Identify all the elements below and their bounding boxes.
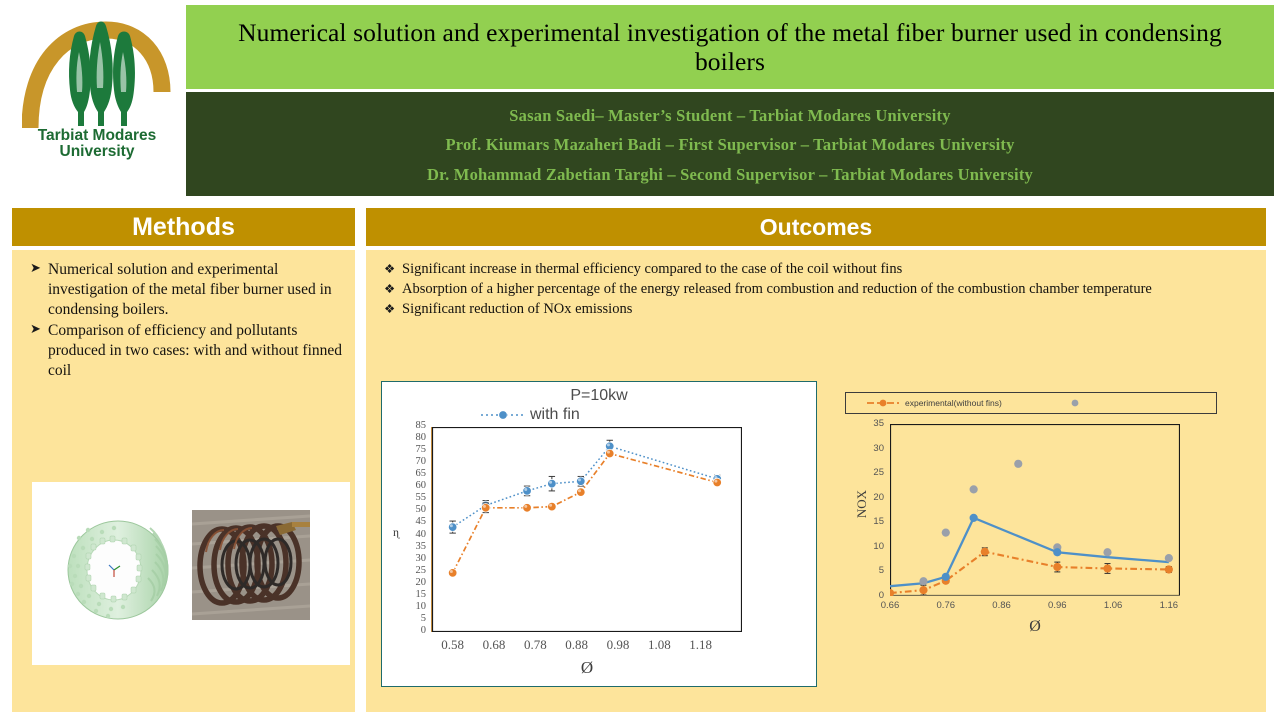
x-axis-tick: 0.98 (598, 637, 638, 653)
data-point (970, 514, 978, 522)
arrow-bullet-icon: ➤ (30, 321, 41, 338)
y-axis-tick: 40 (394, 529, 426, 540)
efficiency-chart: P=10kw with fin ɳ Ø 05101520253035404550… (381, 381, 817, 687)
y-axis-tick: 70 (394, 456, 426, 467)
data-point (1103, 548, 1111, 556)
data-point (970, 485, 978, 493)
author-line: Dr. Mohammad Zabetian Targhi – Second Su… (427, 165, 1033, 185)
y-axis-tick: 45 (394, 516, 426, 527)
author-line: Sasan Saedi– Master’s Student – Tarbiat … (509, 106, 950, 126)
arrow-bullet-icon: ➤ (30, 260, 41, 277)
y-axis-tick: 25 (394, 565, 426, 576)
data-point (919, 586, 927, 594)
list-item: ➤ Comparison of efficiency and pollutant… (28, 321, 346, 380)
data-point (448, 523, 457, 532)
data-point (577, 488, 586, 497)
finned-coil-cad-model (54, 508, 182, 632)
y-axis-tick: 65 (394, 468, 426, 479)
legend-item: experimental(without fins) (866, 397, 1002, 409)
x-axis-label: Ø (567, 658, 607, 678)
x-axis-tick: 1.16 (1149, 600, 1189, 611)
data-point (713, 478, 722, 487)
x-axis-tick: 0.86 (982, 600, 1022, 611)
y-axis-tick: 10 (858, 541, 884, 552)
legend-item (1060, 397, 1095, 409)
plot-svg (432, 427, 742, 632)
page-title: Numerical solution and experimental inve… (186, 18, 1274, 76)
methods-section-header: Methods (12, 208, 355, 246)
x-axis-label: Ø (1015, 618, 1055, 636)
x-axis-tick: 0.76 (926, 600, 966, 611)
chart-legend: experimental(without fins) (845, 392, 1217, 414)
list-item-text: Comparison of efficiency and pollutants … (48, 322, 342, 379)
list-item-text: Numerical solution and experimental inve… (48, 261, 332, 318)
data-point (1053, 563, 1061, 571)
logo-text: Tarbiat Modares University (12, 128, 182, 161)
legend-label: with fin (530, 406, 580, 424)
data-point (942, 529, 950, 537)
x-axis-tick: 1.18 (681, 637, 721, 653)
y-axis-tick: 0 (394, 625, 426, 636)
y-axis-line (431, 427, 432, 632)
data-point (1165, 554, 1173, 562)
plot-area (890, 424, 1180, 596)
y-axis-tick: 30 (858, 443, 884, 454)
x-axis-tick: 0.78 (515, 637, 555, 653)
diamond-bullet-icon: ❖ (384, 261, 395, 277)
authors-bar: Sasan Saedi– Master’s Student – Tarbiat … (186, 92, 1274, 196)
list-item: ➤ Numerical solution and experimental in… (28, 260, 346, 319)
y-axis-tick: 85 (394, 420, 426, 431)
x-axis-tick: 1.06 (1093, 600, 1133, 611)
data-point (523, 503, 532, 512)
y-axis-tick: 10 (394, 601, 426, 612)
legend-swatch-experimental-without-fins (1060, 397, 1090, 409)
x-axis-tick: 0.58 (433, 637, 473, 653)
list-item: ❖ Significant reduction of NOx emissions (382, 300, 1254, 319)
data-point (577, 477, 586, 486)
x-axis-tick: 0.88 (557, 637, 597, 653)
y-axis-tick: 35 (394, 541, 426, 552)
chart-title: P=10kw (382, 387, 816, 405)
data-point (481, 503, 490, 512)
finned-coil-photo (192, 510, 310, 620)
methods-bullet-list: ➤ Numerical solution and experimental in… (28, 260, 346, 383)
data-point (1103, 564, 1111, 572)
y-axis-tick: 35 (858, 418, 884, 429)
y-axis-tick: 20 (858, 492, 884, 503)
methods-panel: ➤ Numerical solution and experimental in… (12, 250, 355, 712)
y-axis-tick: 50 (394, 504, 426, 515)
methods-figures (32, 482, 350, 665)
data-point (448, 569, 457, 578)
data-point (1165, 565, 1173, 573)
logo-text-line2: University (12, 144, 182, 160)
x-axis-tick: 0.66 (870, 600, 910, 611)
y-axis-tick: 60 (394, 480, 426, 491)
chart-legend: with fin (480, 406, 580, 424)
data-point (523, 487, 532, 496)
y-axis-tick: 20 (394, 577, 426, 588)
poster-title-bar: Numerical solution and experimental inve… (186, 5, 1274, 89)
diamond-bullet-icon: ❖ (384, 301, 395, 317)
outcomes-heading-label: Outcomes (760, 214, 872, 241)
legend-label: experimental(without fins) (905, 398, 1002, 408)
x-axis-tick: 0.96 (1037, 600, 1077, 611)
data-point (981, 548, 989, 556)
legend-swatch-experimental-with-fins (866, 397, 900, 409)
y-axis-tick: 55 (394, 492, 426, 503)
outcomes-panel: ❖ Significant increase in thermal effici… (366, 250, 1266, 712)
list-item: ❖ Significant increase in thermal effici… (382, 260, 1254, 279)
author-line: Prof. Kiumars Mazaheri Badi – First Supe… (445, 135, 1014, 155)
y-axis-tick: 25 (858, 467, 884, 478)
y-axis-tick: 15 (394, 589, 426, 600)
data-point (548, 502, 557, 511)
list-item-text: Significant reduction of NOx emissions (402, 301, 632, 317)
data-point (605, 449, 614, 458)
diamond-bullet-icon: ❖ (384, 281, 395, 297)
y-axis-tick: 80 (394, 432, 426, 443)
data-point (1014, 460, 1022, 468)
logo-container: Tarbiat Modares University (0, 0, 185, 200)
y-axis-tick: 30 (394, 553, 426, 564)
outcomes-bullet-list: ❖ Significant increase in thermal effici… (382, 260, 1254, 320)
plot-area (432, 427, 742, 632)
y-axis-tick: 15 (858, 516, 884, 527)
data-point (1053, 548, 1061, 556)
legend-swatch-with-fin (480, 408, 526, 422)
poster-header: Tarbiat Modares University Numerical sol… (0, 0, 1280, 200)
y-axis-tick: 75 (394, 444, 426, 455)
y-axis-tick: 5 (858, 565, 884, 576)
nox-chart: experimental(without fins) NOX Ø 0510152… (840, 390, 1228, 680)
logo-text-line1: Tarbiat Modares (12, 128, 182, 144)
methods-heading-label: Methods (132, 213, 235, 242)
data-point (548, 479, 557, 488)
x-axis-tick: 0.68 (474, 637, 514, 653)
list-item-text: Absorption of a higher percentage of the… (402, 281, 1152, 297)
list-item: ❖ Absorption of a higher percentage of t… (382, 280, 1254, 299)
y-axis-tick: 5 (394, 613, 426, 624)
data-point (919, 577, 927, 585)
tarbiat-modares-university-logo (22, 12, 172, 134)
plot-svg (890, 424, 1180, 596)
list-item-text: Significant increase in thermal efficien… (402, 261, 902, 277)
outcomes-section-header: Outcomes (366, 208, 1266, 246)
x-axis-tick: 1.08 (639, 637, 679, 653)
